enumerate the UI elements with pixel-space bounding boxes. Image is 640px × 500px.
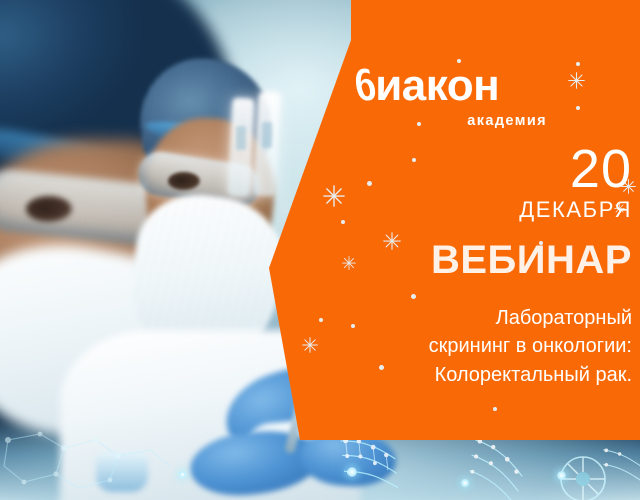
event-date-day: 20 [570, 142, 632, 196]
description-line-3: Колоректальный рак. [362, 361, 632, 389]
description-line-1: Лабораторный [362, 304, 632, 332]
logo-subtitle: академия [355, 113, 551, 129]
description-line-2: скрининг в онкологии: [362, 332, 632, 360]
decor-dot [341, 220, 345, 224]
sparkle-icon [342, 256, 356, 270]
decor-dot [319, 318, 323, 322]
logo-wordmark-rest: иакон [375, 61, 499, 110]
logo-d-glyph: ∂ [355, 64, 376, 108]
logo-wordmark: ∂иакон [355, 64, 551, 108]
event-type-label: ВЕБИНАР [431, 240, 632, 280]
webinar-banner: ∂иакон академия 20 ДЕКАБРЯ ВЕБИНАР Лабор… [0, 0, 640, 500]
banner-content: ∂иакон академия 20 ДЕКАБРЯ ВЕБИНАР Лабор… [355, 0, 640, 440]
diakon-academy-logo[interactable]: ∂иакон академия [355, 64, 551, 129]
event-description: Лабораторный скрининг в онкологии: Колор… [362, 304, 632, 389]
event-date-month: ДЕКАБРЯ [519, 199, 632, 221]
sparkle-icon [302, 337, 318, 353]
sparkle-icon [323, 185, 345, 207]
